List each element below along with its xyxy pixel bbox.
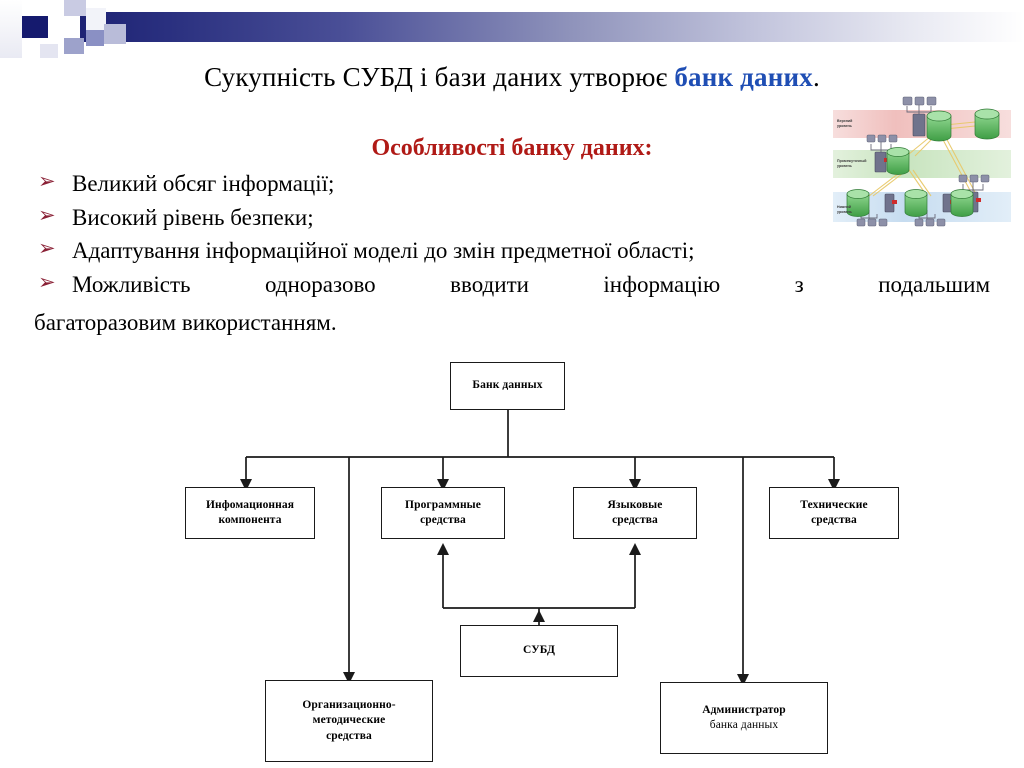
flow-node-label: Инфомационная <box>206 499 294 511</box>
flow-node-label: Языковые <box>608 499 663 511</box>
decor-square-lavender-mid <box>86 30 104 46</box>
decor-square-lavender-top <box>64 0 86 16</box>
flow-node-label: Программные <box>405 499 481 511</box>
page-title-accent-term: банк даних <box>674 62 813 92</box>
flow-node-label-2: методические <box>313 714 386 726</box>
decor-square-lavender-right <box>104 24 126 44</box>
page-title-lead: Сукупність СУБД і бази даних утворює <box>204 62 674 92</box>
tier-label-top-2: уровень <box>837 124 853 128</box>
arrow-bullet-icon: ➢ <box>38 268 56 298</box>
decor-square-pale-low <box>40 44 58 58</box>
tier-label-mid-2: уровень <box>837 164 853 168</box>
page-title-tail: . <box>813 62 820 92</box>
flow-node-language-tools[interactable]: Языковые средства <box>573 487 697 539</box>
flow-node-label-3: средства <box>326 730 372 742</box>
flow-node-label: СУБД <box>523 644 555 656</box>
decor-square-white <box>0 0 22 58</box>
list-item-label: Можливість одноразово вводити інформацію… <box>72 269 990 301</box>
flow-node-label-2: компонента <box>218 514 281 526</box>
tier-label-mid: Промежуточный <box>837 159 866 163</box>
decor-square-navy <box>22 16 48 38</box>
flow-node-organizational-methodical-tools[interactable]: Организационно- методические средства <box>265 680 433 762</box>
flow-node-label: Технические <box>800 499 867 511</box>
header-decoration-band <box>0 0 1024 52</box>
flow-node-label-2: банка данных <box>710 719 778 731</box>
list-item: ➢ Адаптування інформаційної моделі до зм… <box>34 235 990 267</box>
flow-node-software-tools[interactable]: Программные средства <box>381 487 505 539</box>
list-item-continuation: багаторазовим використанням. <box>34 310 337 336</box>
gradient-bar <box>80 12 1024 42</box>
flow-node-dbms[interactable]: СУБД <box>460 625 618 677</box>
decor-square-pale <box>86 8 106 30</box>
arrow-bullet-icon: ➢ <box>38 167 56 197</box>
tier-label-top: Верхний <box>837 119 852 123</box>
list-item-label: Великий обсяг інформації; <box>72 171 334 196</box>
flow-node-label-2: средства <box>420 514 466 526</box>
network-topology-image: Верхний уровень Промежуточный уровень Ни… <box>823 92 1015 228</box>
flow-node-technical-tools[interactable]: Технические средства <box>769 487 899 539</box>
arrow-bullet-icon: ➢ <box>38 234 56 264</box>
list-item-label: Адаптування інформаційної моделі до змін… <box>72 238 694 263</box>
flow-node-bank-danyh[interactable]: Банк данных <box>450 362 565 410</box>
list-item-label: Високий рівень безпеки; <box>72 205 314 230</box>
tier-label-bottom-2: уровень <box>837 210 853 214</box>
flow-node-label: Организационно- <box>302 699 395 711</box>
arrow-bullet-icon: ➢ <box>38 201 56 231</box>
list-item: ➢ Можливість одноразово вводити інформац… <box>34 269 990 301</box>
flow-node-label: Администратор <box>702 704 786 716</box>
flow-node-database-administrator[interactable]: Администратор банка данных <box>660 682 828 754</box>
flow-node-label-2: средства <box>612 514 658 526</box>
decor-square-lavender-bottom <box>64 38 84 54</box>
page-title: Сукупність СУБД і бази даних утворює бан… <box>0 62 1024 93</box>
network-topology-svg: Верхний уровень Промежуточный уровень Ни… <box>823 92 1015 228</box>
flow-node-label-2: средства <box>811 514 857 526</box>
flow-node-information-component[interactable]: Инфомационная компонента <box>185 487 315 539</box>
tier-label-bottom: Нижний <box>837 205 851 209</box>
flow-node-label: Банк данных <box>472 379 542 391</box>
